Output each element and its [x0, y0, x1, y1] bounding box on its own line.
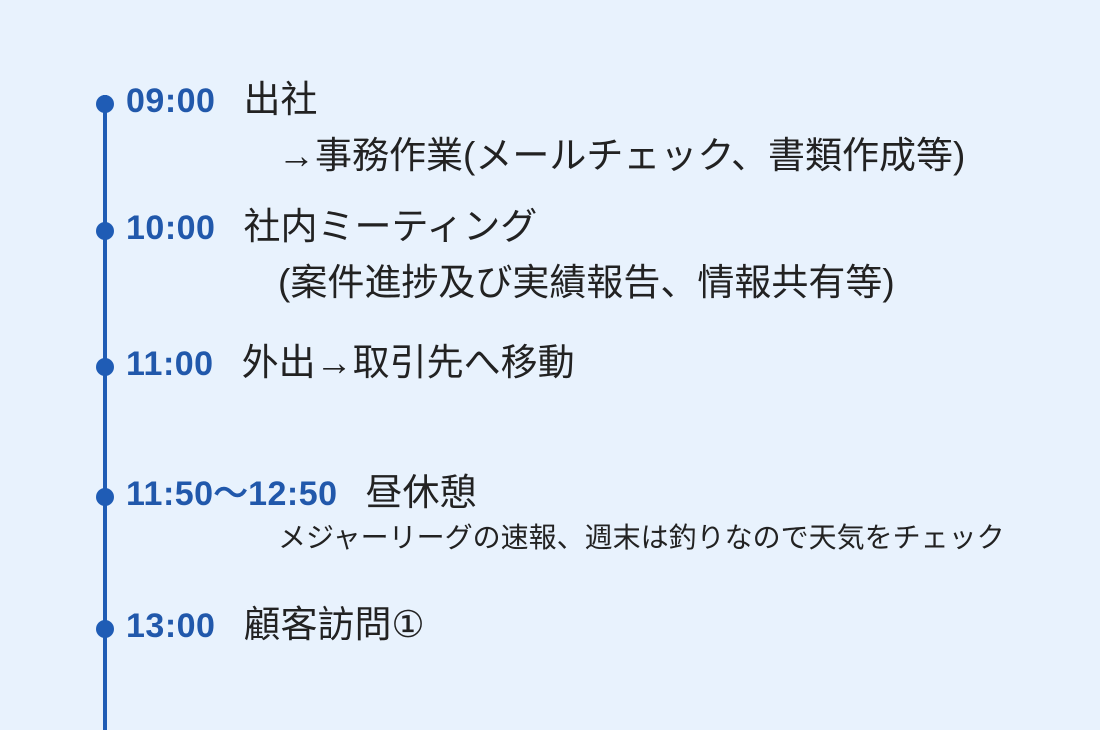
timeline-entry-title: 昼休憩 [366, 462, 477, 516]
timeline-entry-subtext: メジャーリーグの速報、週末は釣りなので天気をチェック [278, 516, 1005, 556]
timeline-entry-title: 外出→取引先へ移動 [242, 332, 575, 386]
timeline-entry-title: 社内ミーティング [243, 196, 537, 250]
timeline-entry-title: 顧客訪問① [243, 594, 424, 648]
timeline-entry-header: 10:00社内ミーティング [126, 196, 537, 250]
timeline-entry-header: 13:00顧客訪問① [126, 594, 425, 648]
timeline-entry-time: 11:00 [126, 345, 214, 384]
timeline-dot [96, 358, 114, 376]
timeline-entry-header: 09:00出社 [126, 69, 317, 123]
timeline-entry-time: 10:00 [126, 209, 215, 248]
timeline-dot [96, 95, 114, 113]
timeline-dot [96, 222, 114, 240]
timeline-dot [96, 620, 114, 638]
timeline-entry-time: 13:00 [126, 607, 215, 646]
timeline-entry-time: 11:50〜12:50 [126, 466, 338, 515]
timeline-entry-header: 11:50〜12:50昼休憩 [126, 462, 477, 516]
timeline-entry-subtext: →事務作業(メールチェック、書類作成等) [278, 125, 965, 179]
timeline-entry-header: 11:00外出→取引先へ移動 [126, 332, 575, 386]
timeline-entry-title: 出社 [243, 69, 317, 123]
timeline-entry-subtext: (案件進捗及び実績報告、情報共有等) [278, 252, 895, 306]
timeline-root: 09:00出社 →事務作業(メールチェック、書類作成等) 10:00社内ミーティ… [0, 0, 1100, 730]
timeline-entry-time: 09:00 [126, 82, 215, 121]
timeline-dot [96, 488, 114, 506]
